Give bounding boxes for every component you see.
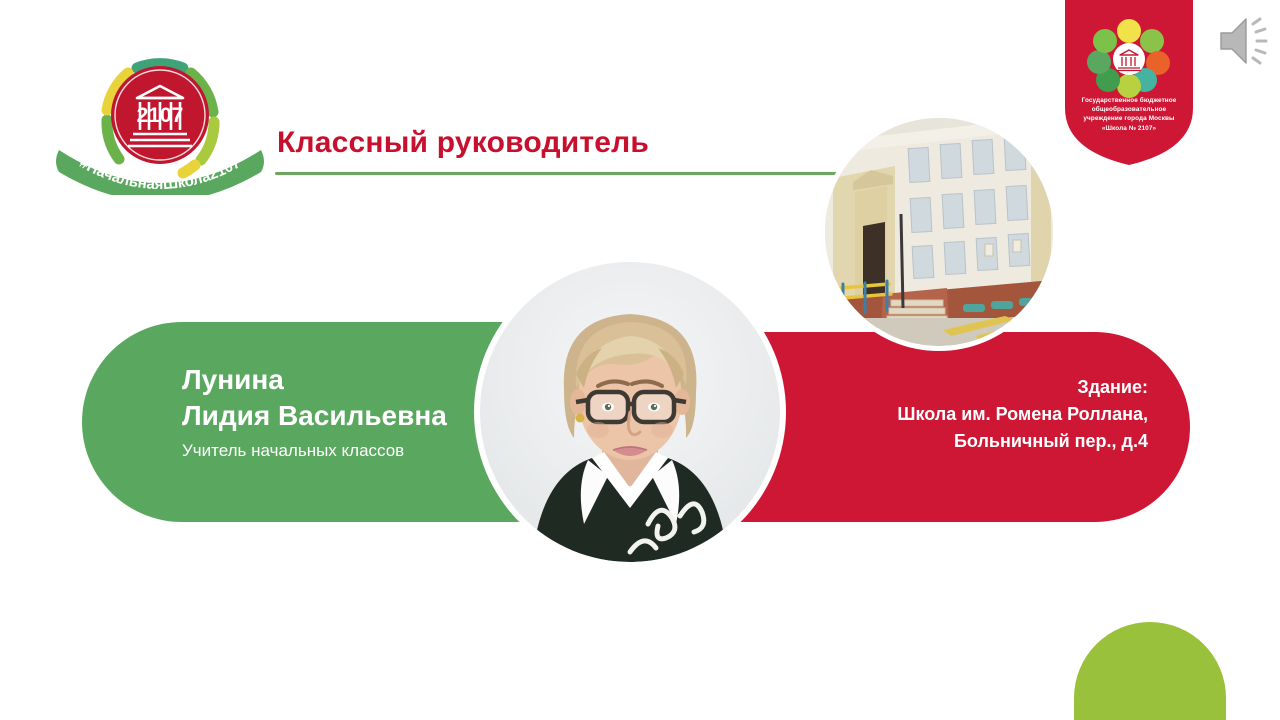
slide-canvas: 2107 #НачальнаяШкола2107 [0,0,1280,720]
shield-caption-line-1: Государственное бюджетное [1065,96,1193,105]
shield-caption-line-3: учреждение города Москвы [1065,114,1193,123]
green-blob-decoration [1074,622,1226,720]
page-title: Классный руководитель [277,126,649,160]
building-info-content: Здание: Школа им. Ромена Роллана, Больни… [768,374,1148,455]
shield-caption: Государственное бюджетное общеобразовате… [1065,96,1193,133]
school-crest-logo: 2107 #НачальнаяШкола2107 [45,20,275,195]
building-name: Школа им. Ромена Роллана, [768,401,1148,428]
shield-caption-line-2: общеобразовательное [1065,105,1193,114]
shield-caption-line-4: «Школа № 2107» [1065,124,1193,133]
teacher-portrait-photo [480,262,780,562]
gbou-shield-logo: Государственное бюджетное общеобразовате… [1065,0,1193,165]
audio-speaker-icon[interactable] [1215,10,1271,72]
title-underline-rule [275,172,881,175]
building-label: Здание: [768,374,1148,401]
school-building-photo [825,118,1053,346]
crest-number: 2107 [137,104,184,127]
building-address: Больничный пер., д.4 [768,428,1148,455]
